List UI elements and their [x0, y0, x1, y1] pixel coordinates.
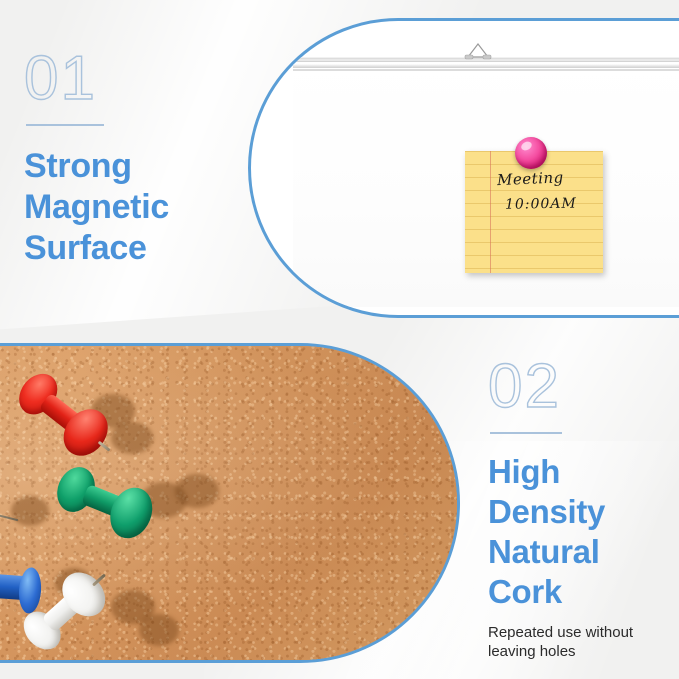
- triangle-hanging-bracket-icon: [461, 42, 495, 60]
- pin-shadow-yellow: [11, 496, 49, 526]
- pink-magnet-icon: [515, 137, 547, 169]
- whiteboard-top-rail-secondary: [293, 64, 679, 68]
- feature-divider-02: [490, 432, 562, 434]
- sticky-note-text: Meeting 10:00AM: [497, 169, 597, 212]
- whiteboard-panel: Meeting 10:00AM: [248, 18, 679, 318]
- feature-number-01: 01: [24, 48, 239, 110]
- feature-block-02: 02 High Density Natural Cork Repeated us…: [488, 356, 673, 662]
- corkboard-panel: [0, 343, 460, 663]
- whiteboard: Meeting 10:00AM: [293, 45, 679, 307]
- sticky-note-margin-line: [490, 151, 491, 273]
- feature-title-02: High Density Natural Cork: [488, 452, 673, 613]
- pin-shadow-green-b: [175, 474, 219, 508]
- feature-title-01: Strong Magnetic Surface: [24, 146, 239, 270]
- sticky-note-line-1: Meeting: [497, 167, 598, 189]
- feature-subtitle-02: Repeated use without leaving holes: [488, 623, 673, 662]
- pin-shadow-white-b: [139, 614, 179, 646]
- feature-divider-01: [26, 124, 104, 126]
- sticky-note-line-2: 10:00AM: [505, 195, 597, 213]
- feature-number-02: 02: [488, 356, 673, 418]
- whiteboard-top-rail-edge: [293, 69, 679, 71]
- sticky-note: Meeting 10:00AM: [465, 151, 603, 273]
- sticky-note-assembly: Meeting 10:00AM: [465, 151, 603, 273]
- infographic-root: 01 Strong Magnetic Surface: [0, 0, 679, 679]
- feature-block-01: 01 Strong Magnetic Surface: [24, 48, 239, 270]
